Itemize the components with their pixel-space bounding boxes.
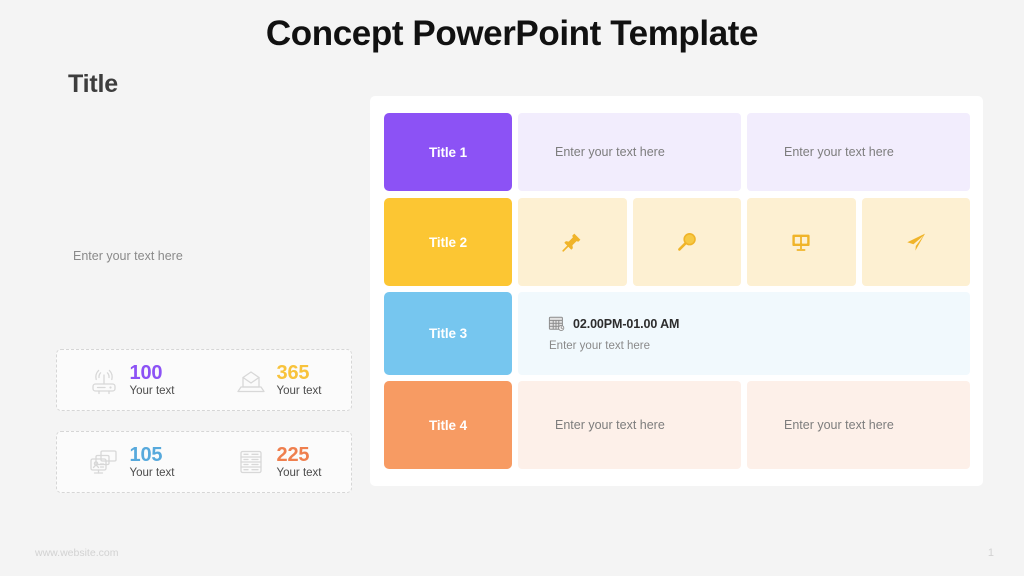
- detail-headline: 02.00PM-01.00 AM: [573, 317, 679, 331]
- stat-item[interactable]: 365 Your text: [204, 363, 351, 398]
- wifi-router-icon: [87, 364, 121, 396]
- row-3-detail-cell[interactable]: 02.00PM-01.00 AM Enter your text here: [518, 292, 970, 375]
- stat-value: 225: [277, 445, 322, 465]
- row-1-text-cell-1[interactable]: Enter your text here: [518, 113, 741, 191]
- row-title-3[interactable]: Title 3: [384, 292, 512, 375]
- stat-text-block: 365 Your text: [277, 363, 322, 398]
- main-content-panel: Title 1 Enter your text here Enter your …: [370, 96, 983, 486]
- stat-value: 100: [130, 363, 175, 383]
- left-content-column: Title Enter your text here: [55, 70, 355, 263]
- stat-item[interactable]: 225 Your text: [204, 445, 351, 480]
- stat-text-block: 100 Your text: [130, 363, 175, 398]
- detail-subtext[interactable]: Enter your text here: [549, 340, 970, 352]
- row-2-icon-cell-4[interactable]: [862, 198, 971, 286]
- content-row: Title 2: [384, 198, 970, 286]
- pushpin-icon: [561, 231, 583, 253]
- page-title: Concept PowerPoint Template: [0, 14, 1024, 54]
- laptop-mail-icon: [234, 364, 268, 396]
- presentation-screen-icon: [790, 231, 812, 253]
- stat-label: Your text: [277, 468, 322, 480]
- row-title-2[interactable]: Title 2: [384, 198, 512, 286]
- content-row: Title 1 Enter your text here Enter your …: [384, 113, 970, 191]
- stat-text-block: 225 Your text: [277, 445, 322, 480]
- paper-plane-icon: [905, 231, 927, 253]
- stat-card: 100 Your text 365 Your text: [56, 349, 352, 411]
- magnifier-icon: [676, 231, 698, 253]
- footer-page-number: 1: [988, 547, 994, 559]
- stat-card: 105 Your text: [56, 431, 352, 493]
- row-4-text-cell-2[interactable]: Enter your text here: [747, 381, 970, 469]
- content-row: Title 4 Enter your text here Enter your …: [384, 381, 970, 469]
- devices-monitor-icon: [87, 446, 121, 478]
- left-body-text[interactable]: Enter your text here: [73, 249, 355, 263]
- row-1-text-cell-2[interactable]: Enter your text here: [747, 113, 970, 191]
- calendar-clock-icon: [548, 315, 565, 332]
- row-title-1[interactable]: Title 1: [384, 113, 512, 191]
- detail-headline-row: 02.00PM-01.00 AM: [548, 315, 970, 332]
- stat-label: Your text: [130, 468, 175, 480]
- stat-value: 105: [130, 445, 175, 465]
- stat-label: Your text: [130, 386, 175, 398]
- left-section-heading: Title: [68, 70, 355, 99]
- stat-label: Your text: [277, 386, 322, 398]
- stat-item[interactable]: 100 Your text: [57, 363, 204, 398]
- stat-value: 365: [277, 363, 322, 383]
- row-2-icon-cell-2[interactable]: [633, 198, 742, 286]
- row-4-text-cell-1[interactable]: Enter your text here: [518, 381, 741, 469]
- content-row: Title 3: [384, 292, 970, 375]
- server-rack-icon: [234, 446, 268, 478]
- footer-website-url[interactable]: www.website.com: [35, 547, 118, 559]
- row-title-4[interactable]: Title 4: [384, 381, 512, 469]
- row-2-icon-cell-1[interactable]: [518, 198, 627, 286]
- stat-text-block: 105 Your text: [130, 445, 175, 480]
- stat-item[interactable]: 105 Your text: [57, 445, 204, 480]
- slide-canvas: Concept PowerPoint Template Title Enter …: [0, 0, 1024, 576]
- row-2-icon-cell-3[interactable]: [747, 198, 856, 286]
